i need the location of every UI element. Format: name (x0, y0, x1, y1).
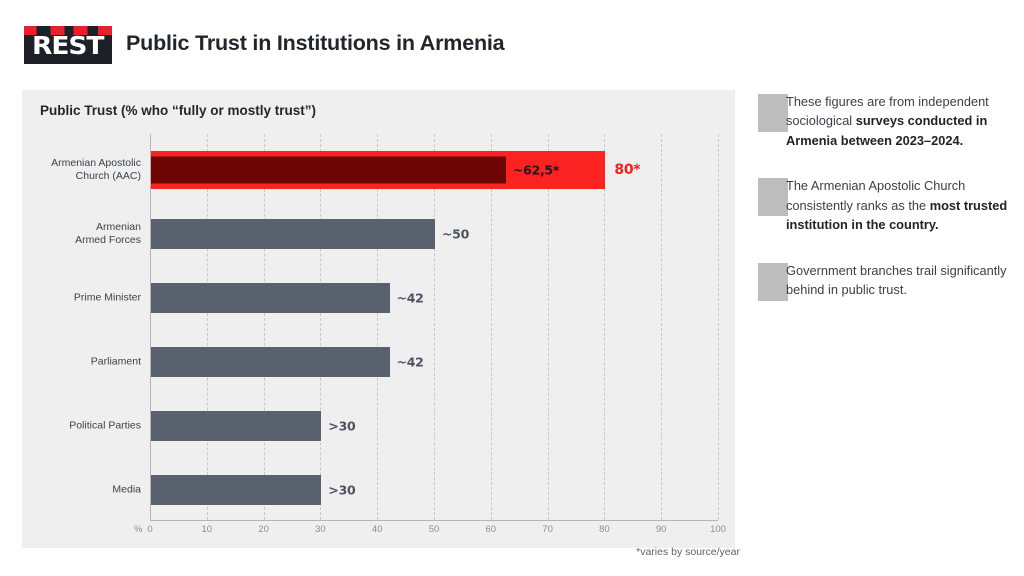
x-tick-label-60: 60 (486, 524, 497, 535)
bar-value[interactable] (151, 411, 321, 441)
bar-category-label: Political Parties (11, 419, 141, 432)
bar-row[interactable]: Armenian Apostolic Church (AAC)~62,5*80* (150, 138, 740, 202)
bar-row[interactable]: Political Parties>30 (150, 394, 740, 458)
bar-value[interactable] (151, 475, 321, 505)
x-tick-label-10: 10 (202, 524, 213, 535)
bar-row[interactable]: Armenian Armed Forces~50 (150, 202, 740, 266)
header: REST Public Trust in Institutions in Arm… (0, 0, 1024, 88)
bar-value[interactable] (151, 347, 390, 377)
x-axis-unit-label: % (134, 524, 142, 535)
x-tick-label-100: 100 (710, 524, 726, 535)
bar-category-label: Media (11, 483, 141, 496)
side-note-text: Government branches trail significantly … (758, 261, 1008, 300)
bar-row[interactable]: Parliament~42 (150, 330, 740, 394)
bar-value-label: >30 (328, 419, 355, 434)
x-tick-label-20: 20 (258, 524, 269, 535)
bar-value[interactable] (151, 283, 390, 313)
side-note-text: The Armenian Apostolic Church consistent… (758, 176, 1008, 234)
page-title: Public Trust in Institutions in Armenia (126, 31, 504, 56)
bar-value[interactable] (151, 157, 506, 184)
bar-category-label: Armenian Armed Forces (11, 221, 141, 247)
side-note: Government branches trail significantly … (758, 261, 1008, 305)
x-tick-label-0: 0 (147, 524, 152, 535)
bar-value-label: >30 (328, 483, 355, 498)
bar-chart-plot: % 0102030405060708090100 Armenian Aposto… (150, 134, 740, 546)
side-note-emphasis: surveys conducted in Armenia between 202… (786, 113, 987, 147)
bar-value-label: ~50 (442, 227, 469, 242)
side-note-text: These figures are from independent socio… (758, 92, 1008, 150)
bar-value[interactable] (151, 219, 435, 249)
infographic-root: REST Public Trust in Institutions in Arm… (0, 0, 1024, 576)
x-tick-label-50: 50 (429, 524, 440, 535)
bar-value-label: ~62,5* (513, 163, 559, 178)
x-tick-label-80: 80 (599, 524, 610, 535)
bar-category-label: Prime Minister (11, 291, 141, 304)
bar-category-label: Armenian Apostolic Church (AAC) (11, 157, 141, 183)
side-note-emphasis: most trusted institution in the country. (786, 198, 1007, 232)
side-note: The Armenian Apostolic Church consistent… (758, 176, 1008, 234)
chart-heading: Public Trust (% who “fully or mostly tru… (40, 103, 316, 118)
rest-logo: REST (24, 26, 112, 64)
x-tick-label-90: 90 (656, 524, 667, 535)
x-tick-label-30: 30 (315, 524, 326, 535)
bar-row[interactable]: Media>30 (150, 458, 740, 522)
side-notes: These figures are from independent socio… (758, 92, 1008, 331)
x-tick-label-70: 70 (542, 524, 553, 535)
bar-category-label: Parliament (11, 355, 141, 368)
chart-footnote: *varies by source/year (636, 546, 740, 558)
bar-value-label: ~42 (397, 355, 424, 370)
bar-upper-estimate-label: 80* (614, 162, 640, 178)
bar-row[interactable]: Prime Minister~42 (150, 266, 740, 330)
side-note: These figures are from independent socio… (758, 92, 1008, 150)
bar-value-label: ~42 (397, 291, 424, 306)
rest-logo-text: REST (32, 33, 103, 58)
x-tick-label-40: 40 (372, 524, 383, 535)
chart-panel: Public Trust (% who “fully or mostly tru… (22, 90, 735, 548)
